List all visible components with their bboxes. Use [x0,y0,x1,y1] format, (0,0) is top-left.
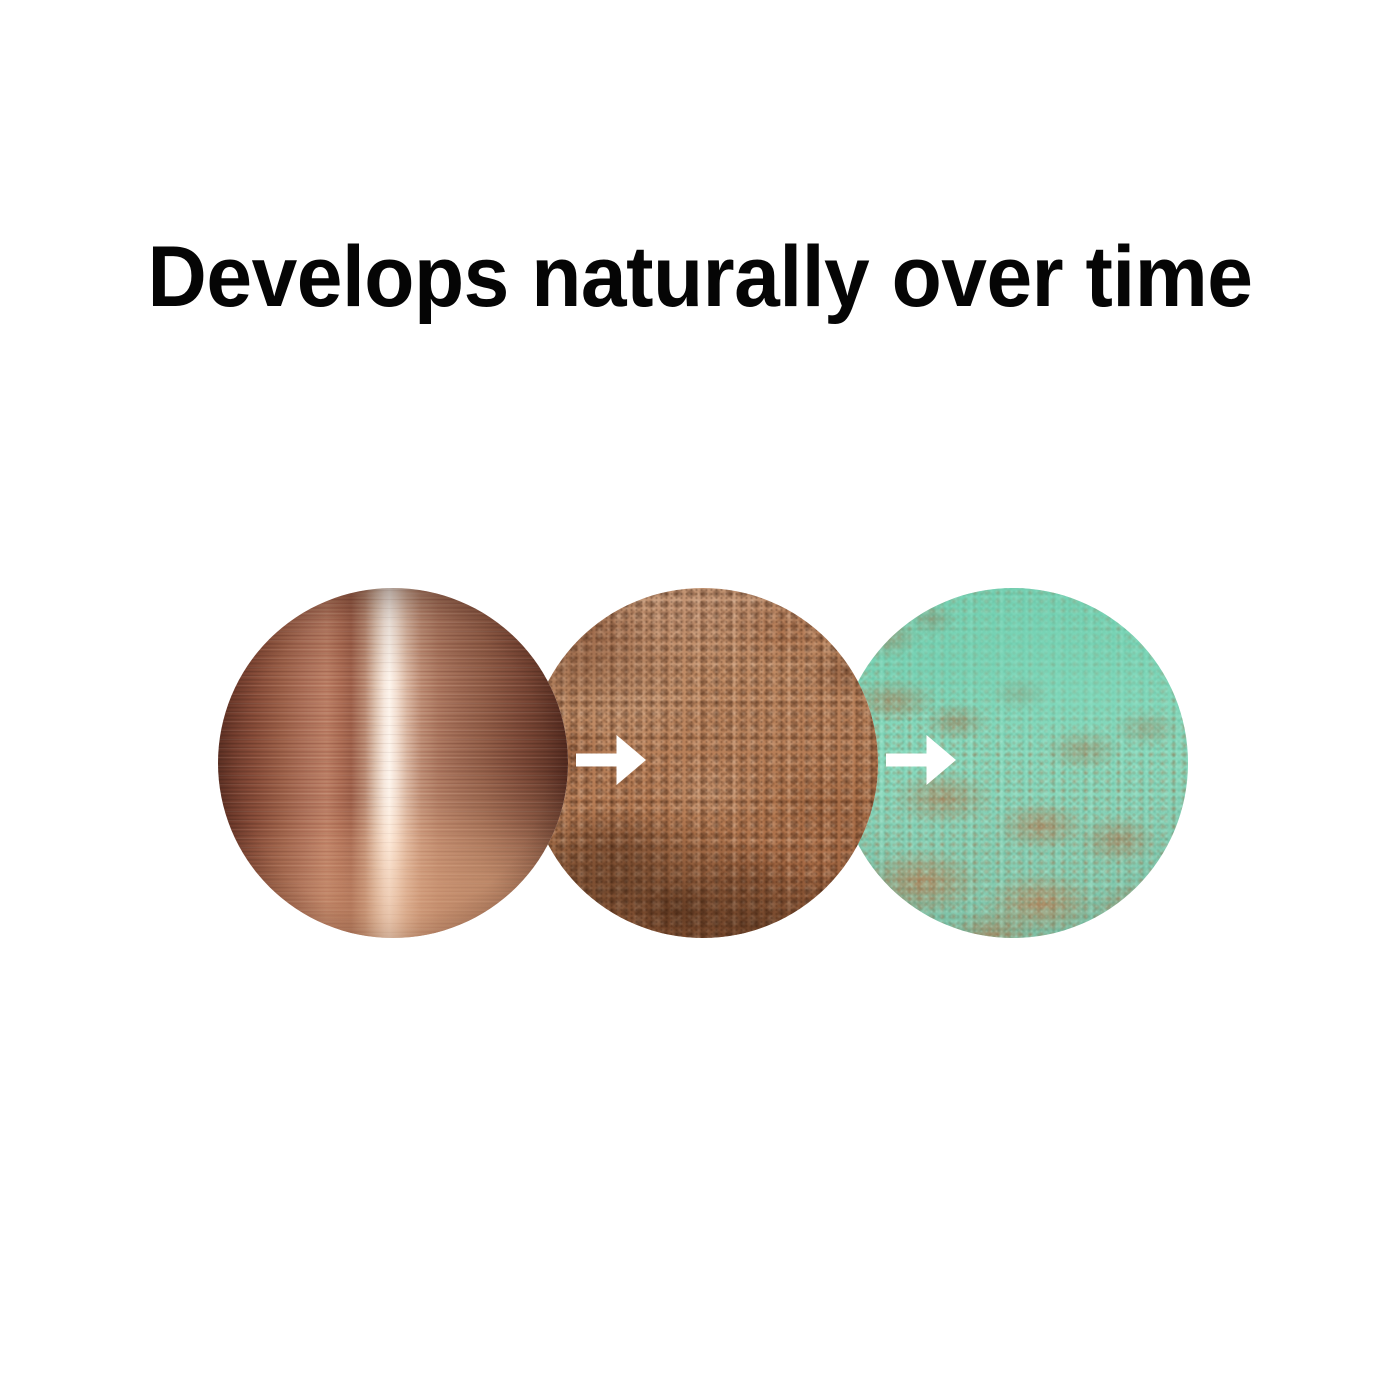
slide-canvas: Develops naturally over time [0,0,1400,1400]
page-title: Develops naturally over time [32,232,1369,322]
patina-progression-diagram [0,588,1400,940]
right-arrow-icon [886,722,958,798]
arrow-1-path [576,735,646,785]
stage-circle-polished-copper [218,588,568,938]
arrow-2-path [886,735,956,785]
polished-copper-vignette [218,588,568,938]
right-arrow-icon [576,722,648,798]
